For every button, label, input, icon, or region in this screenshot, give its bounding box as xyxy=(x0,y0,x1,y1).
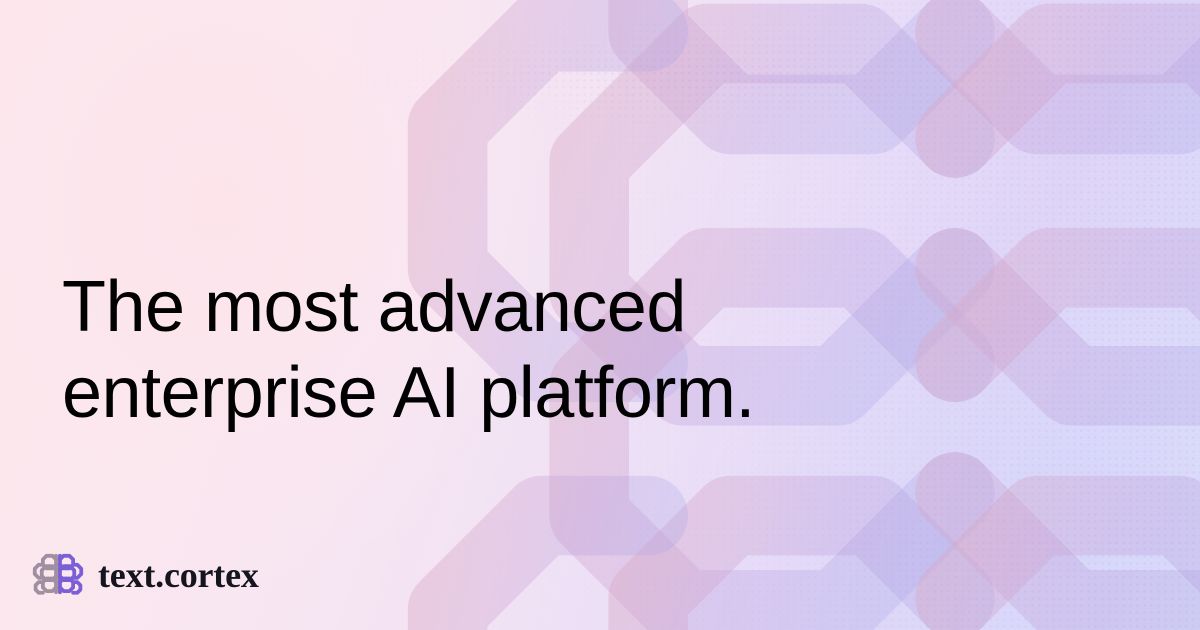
brand-lockup: text.cortex xyxy=(30,546,259,602)
page-title: The most advanced enterprise AI platform… xyxy=(62,264,862,436)
og-card: The most advanced enterprise AI platform… xyxy=(0,0,1200,630)
brand-wordmark: text.cortex xyxy=(98,557,259,593)
brain-logo-icon xyxy=(30,546,86,602)
